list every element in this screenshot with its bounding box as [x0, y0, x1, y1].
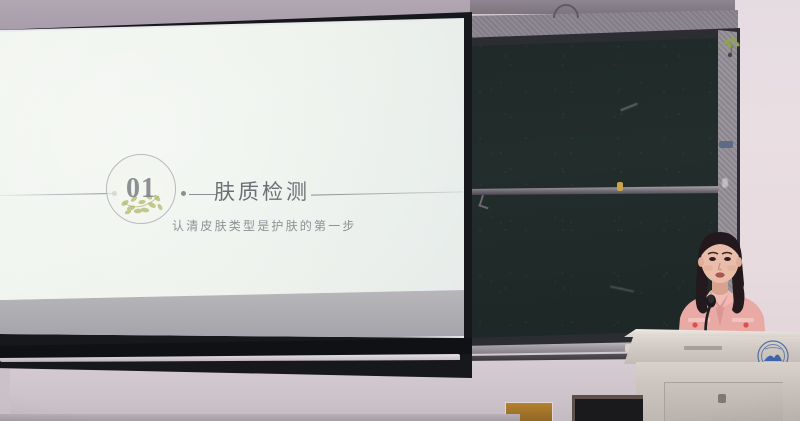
slide-rule-middle: [189, 194, 217, 195]
slide-dot-right: [181, 191, 186, 196]
slide-rule-left: [0, 193, 113, 196]
presentation-slide: 01 肤质检测 认清皮肤类型是护肤的第一步: [0, 18, 464, 308]
desk-edge: [0, 414, 520, 421]
lock-icon[interactable]: [718, 394, 726, 403]
slide-rule-right: [311, 191, 463, 195]
lecture-hall-photo: 01 肤质检测 认清皮肤类型是护肤的第一步: [0, 0, 800, 421]
lectern-nameplate: [684, 346, 722, 350]
projection-screen: 01 肤质检测 认清皮肤类型是护肤的第一步: [0, 18, 464, 350]
slide-subtitle: 认清皮肤类型是护肤的第一步: [172, 217, 357, 234]
section-number-badge: 01: [106, 154, 176, 224]
plant-icon: [722, 36, 744, 58]
monitor: [572, 395, 643, 421]
divider-smudge: [722, 178, 728, 188]
rail-clip-icon: [617, 182, 623, 191]
section-number: 01: [107, 155, 175, 223]
slide-title: 肤质检测: [214, 176, 310, 206]
divider-knob: [719, 141, 733, 148]
